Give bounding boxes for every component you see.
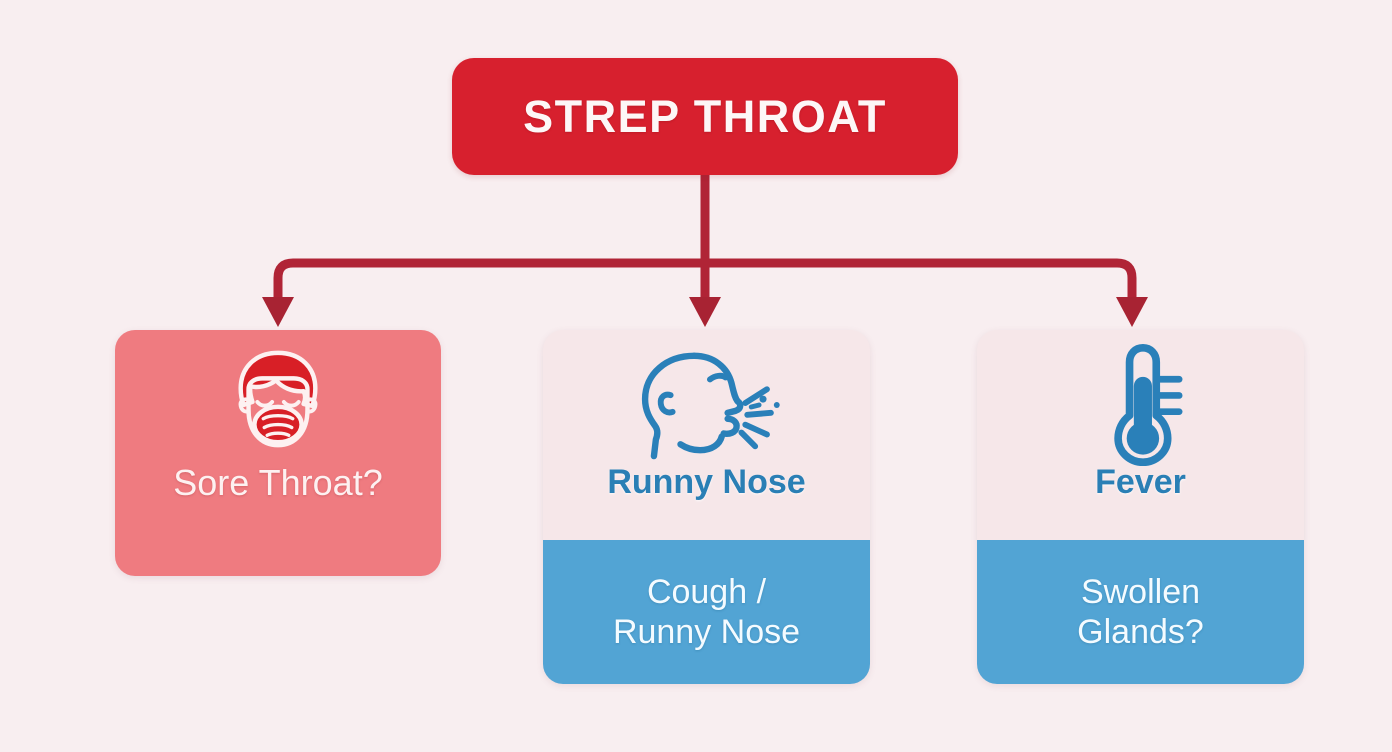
card-fever-bottom-line2: Glands? [1077,612,1204,652]
arrowhead-left [262,297,294,327]
card-sore-throat[interactable]: Sore Throat? [115,330,441,576]
card-runny-nose[interactable]: Runny Nose Cough / Runny Nose [543,330,870,684]
arrowhead-middle [689,297,721,327]
card-runny-nose-bottom: Cough / Runny Nose [543,540,870,684]
card-runny-nose-top: Runny Nose [543,330,870,540]
root-node-label: STREP THROAT [523,91,887,143]
sick-face-icon [218,344,338,456]
connector-bus [278,263,1132,300]
card-fever-top-label: Fever [1095,464,1186,501]
sneezing-head-icon [623,346,791,464]
card-fever-top: Fever [977,330,1304,540]
card-sore-throat-label-line2: Throat? [259,462,383,503]
thermometer-icon [1089,346,1193,464]
card-sore-throat-label: Sore Throat? [173,462,382,504]
card-runny-nose-top-label: Runny Nose [607,464,805,501]
card-fever-bottom-line1: Swollen [1077,572,1204,612]
strep-throat-diagram: STREP THROAT [0,0,1392,752]
card-fever-bottom-label: Swollen Glands? [1067,572,1214,652]
card-fever[interactable]: Fever Swollen Glands? [977,330,1304,684]
arrowhead-right [1116,297,1148,327]
card-runny-nose-bottom-label: Cough / Runny Nose [603,572,810,652]
card-sore-throat-label-line1: Sore [173,462,249,503]
card-runny-nose-bottom-line1: Cough / [613,572,800,612]
card-runny-nose-bottom-line2: Runny Nose [613,612,800,652]
card-fever-bottom: Swollen Glands? [977,540,1304,684]
root-node-strep-throat[interactable]: STREP THROAT [452,58,958,175]
